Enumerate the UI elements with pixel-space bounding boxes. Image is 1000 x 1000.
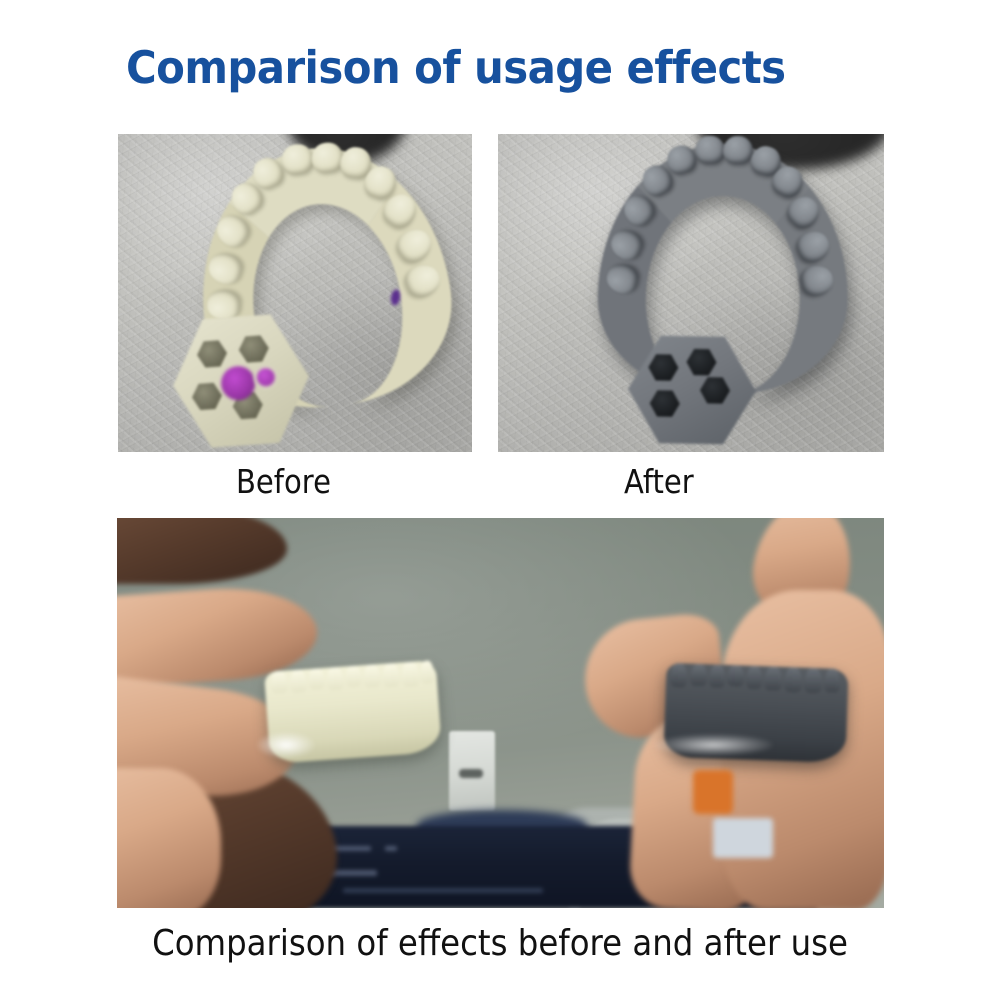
bottom-scene <box>117 518 884 908</box>
specular-highlight-right <box>653 734 773 756</box>
background-white-item <box>713 818 773 858</box>
hex-test-block-before <box>168 309 313 452</box>
specular-highlight-left <box>257 732 315 758</box>
photo-before <box>118 134 472 452</box>
product-comparison-page: Comparison of usage effects <box>0 0 1000 1000</box>
background-orange-item <box>693 770 733 814</box>
caption-bottom: Comparison of effects before and after u… <box>152 922 848 966</box>
caption-after: After <box>624 462 694 502</box>
hex-test-block-after <box>627 333 757 447</box>
page-title: Comparison of usage effects <box>126 40 814 96</box>
caption-before: Before <box>236 462 331 502</box>
wall-outlet <box>449 731 495 811</box>
after-scene <box>498 134 884 452</box>
before-scene <box>118 134 472 452</box>
photo-after <box>498 134 884 452</box>
photo-before-after-in-hands <box>117 518 884 908</box>
